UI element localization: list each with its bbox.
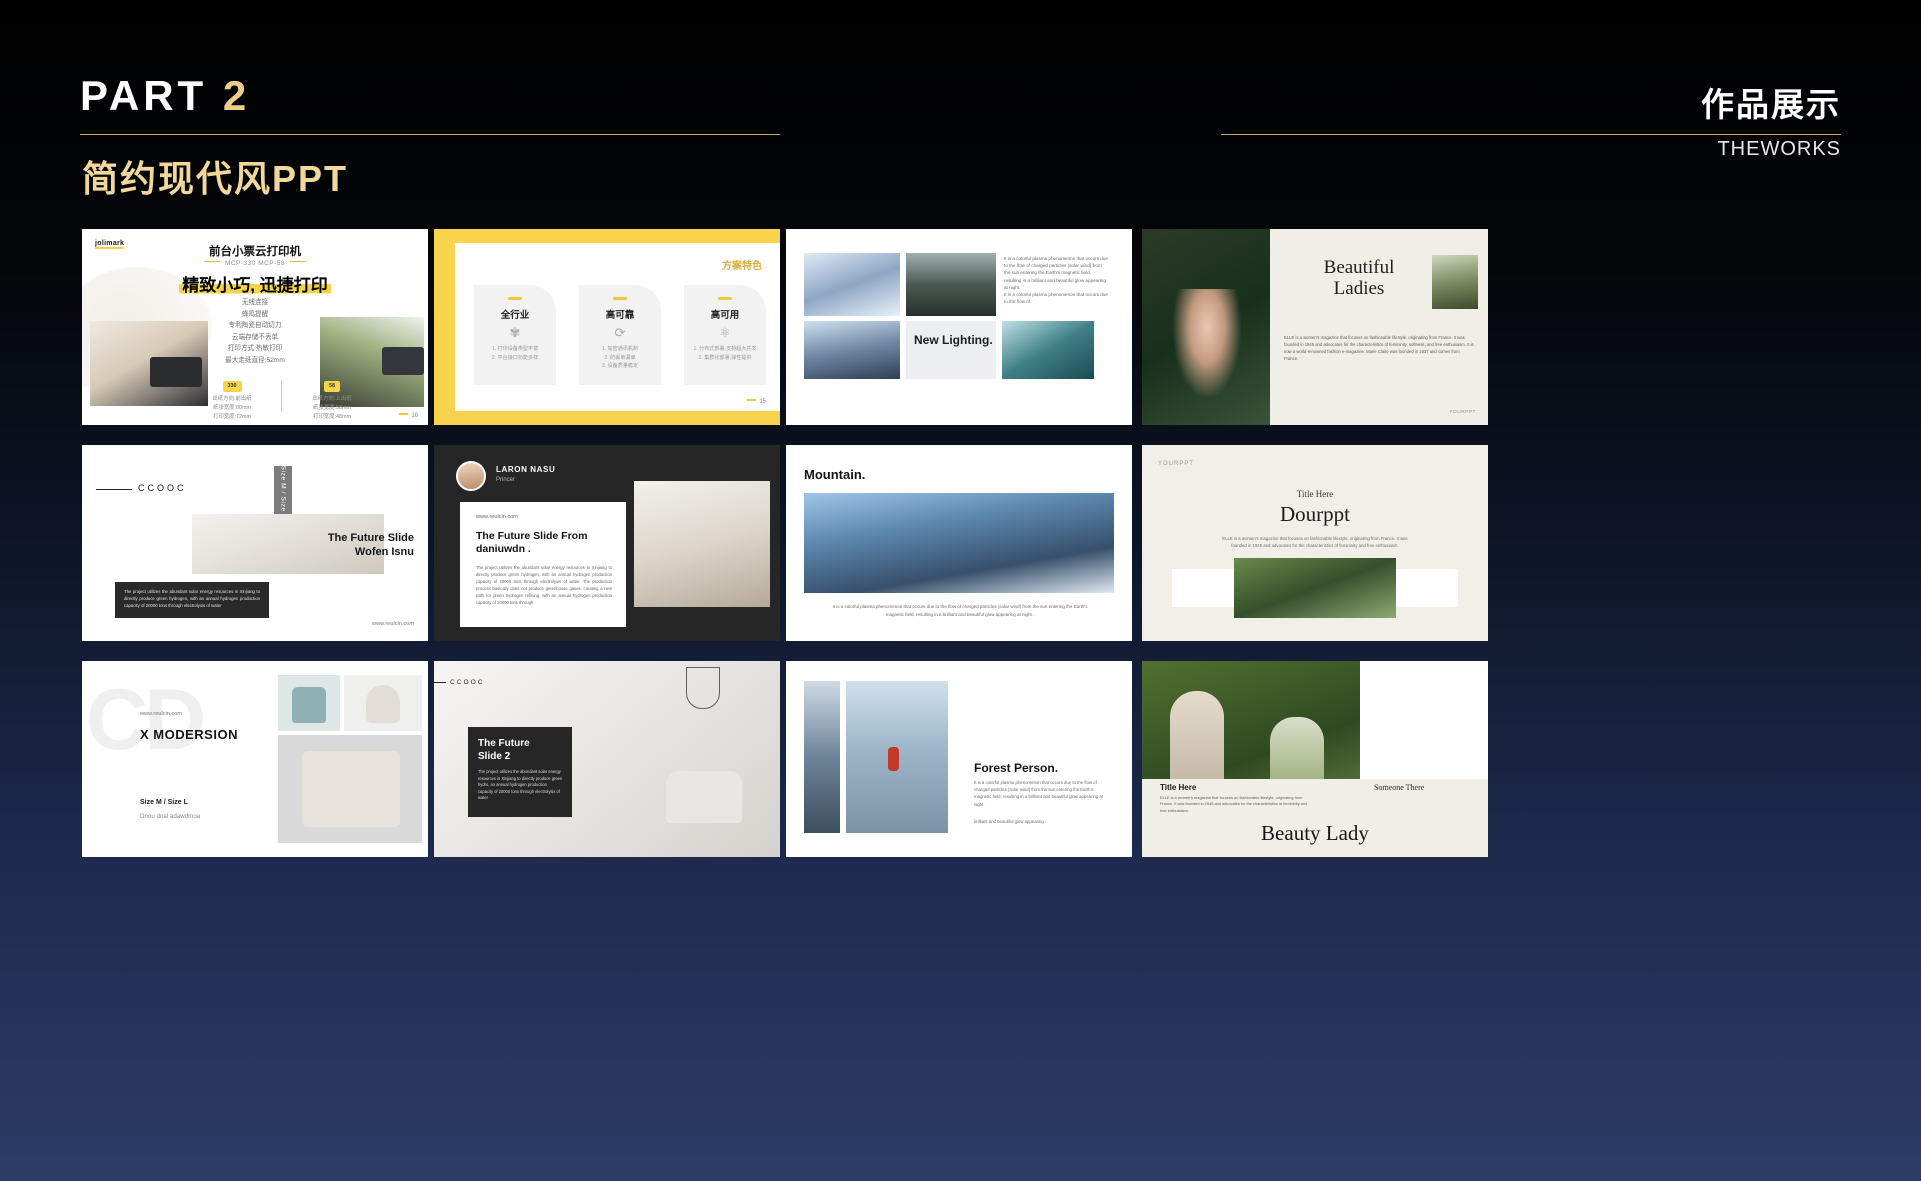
part-label-text: PART <box>80 72 207 119</box>
slide-headline: New Lighting. <box>914 333 993 347</box>
slide-title: Dourppt <box>1142 502 1488 527</box>
yellow-triangle-accent <box>455 229 605 243</box>
body-text: It is a colorful plasma phenomenon that … <box>974 779 1104 808</box>
slide-image-snow-trees <box>804 253 900 316</box>
someone-there-label: Someone There <box>1374 783 1424 792</box>
chair-shape <box>366 685 400 723</box>
bullet: 3. 设备质量稳定 <box>579 362 661 371</box>
headline-line-2: Wofen Isnu <box>234 545 414 559</box>
card-heading: 高可靠 <box>579 307 661 321</box>
headline-tile: New Lighting. <box>906 321 996 379</box>
slide-thumb-beauty-lady[interactable]: Title Here ELLE is a women's magazine th… <box>1142 661 1488 857</box>
page-number: 16 <box>399 413 418 419</box>
spec-badge: 58 <box>324 381 340 392</box>
slide-title: 前台小票云打印机 <box>82 243 428 259</box>
caption-text: It is a colorful plasma phenomenon that … <box>824 603 1096 618</box>
brand-label: YOURPPT <box>1158 461 1194 467</box>
slide-image-woman-flowers <box>1142 229 1270 425</box>
card-accent-dash <box>718 297 732 300</box>
brand-rule <box>434 682 446 683</box>
card-heading: 全行业 <box>474 307 556 321</box>
part-label: PART 2 <box>80 72 250 120</box>
card-bullets: 1. 加密通讯机制 2. 防丢单漏单 3. 设备质量稳定 <box>579 345 661 371</box>
slide-thumb-beautiful-ladies[interactable]: Beautiful Ladies ELLE is a women's magaz… <box>1142 229 1488 425</box>
part-number: 2 <box>223 72 250 119</box>
body-text: ELLE is a women's magazine that focuses … <box>1220 535 1410 549</box>
spec-divider <box>281 381 282 411</box>
bullet: 2. 防丢单漏单 <box>579 354 661 363</box>
slide-title: Beautiful Ladies <box>1284 257 1434 299</box>
body-text: ELLE is a women's magazine that focuses … <box>1284 334 1474 362</box>
slide-headline: X MODERSION <box>140 727 238 742</box>
slide-image-foggy-forest <box>906 253 996 316</box>
feature-item: 蜂鸣提醒 <box>82 309 428 321</box>
slide-image-lake-island <box>1002 321 1094 379</box>
feature-card: 全行业 ✾ 1. 打印设备类型丰富 2. 平台接口功能多样 <box>474 285 556 385</box>
network-node-icon: ⚛ <box>684 325 766 341</box>
refresh-arrow-icon: ⟳ <box>579 325 661 341</box>
header-right-title: 作品展示 <box>1701 78 1841 126</box>
paragraph-2: It is a colorful plasma phenomenon that … <box>1004 291 1108 305</box>
card-heading: 高可用 <box>684 307 766 321</box>
subtitle: Dnou dnal adawdmoa <box>140 813 200 820</box>
title-line-2: Ladies <box>1284 278 1434 299</box>
slide-image-inset <box>1432 255 1478 309</box>
brand-label: CCOOC <box>138 483 187 493</box>
chair-shape <box>292 687 326 723</box>
dark-text-box: The Future Slide 2 The project utilizes … <box>468 727 572 817</box>
headline-line-2: Slide 2 <box>478 750 530 763</box>
slide-image-narrow-landscape <box>804 681 840 833</box>
slide-thumb-future-slide-2[interactable]: CCOOC The Future Slide 2 The project uti… <box>434 661 780 857</box>
bullet: 1. 分布式部署,支持超大并发 <box>684 345 766 354</box>
header-right-subtitle: THEWORKS <box>1717 138 1841 161</box>
slide-title: Beauty Lady <box>1142 821 1488 846</box>
bullet: 1. 打印设备类型丰富 <box>474 345 556 354</box>
slide-headline: The Future Slide Wofen Isnu <box>234 531 414 559</box>
card-accent-dash <box>508 297 522 300</box>
headline-mark: X <box>140 727 149 742</box>
header-rule-left <box>80 134 780 135</box>
page-header: PART 2 简约现代风PPT 作品展示 THEWORKS <box>0 0 1921 215</box>
slide-title: 方案特色 <box>722 257 762 272</box>
feature-item: 打印方式:热敏打印 <box>82 343 428 355</box>
portrait-highlight <box>1172 289 1242 399</box>
page-number: 15 <box>747 399 766 405</box>
body-text: The project utilizes the abundant solar … <box>124 588 260 609</box>
slide-headline: The Future Slide From daniuwdn . <box>476 530 612 556</box>
spec-line: 出纸方向:上出纸 <box>292 395 372 404</box>
slide-thumb-new-lighting[interactable]: New Lighting. It is a colorful plasma ph… <box>786 229 1132 425</box>
brand-label: CCOOC <box>450 679 485 686</box>
model-numbers: MCP-330 MCP-58 <box>82 260 428 267</box>
slide-thumb-laron-nasu[interactable]: LARON NASU Princer www.reulcin.com The F… <box>434 445 780 641</box>
slide-thumb-x-modersion[interactable]: CD www.reulcin.com X MODERSION Size M / … <box>82 661 428 857</box>
website-url[interactable]: www.reulcin.com <box>476 514 518 520</box>
slide-thumb-plan-features[interactable]: 方案特色 全行业 ✾ 1. 打印设备类型丰富 2. 平台接口功能多样 高可靠 ⟳… <box>434 229 780 425</box>
bullet: 2. 平台接口功能多样 <box>474 354 556 363</box>
slide-image-person-ice <box>846 681 948 833</box>
bullet: 1. 加密通讯机制 <box>579 345 661 354</box>
spec-line: 打印宽度:72mm <box>192 413 272 422</box>
avatar <box>456 461 486 491</box>
ghost-watermark: CD <box>86 677 202 763</box>
size-label: Size M / Size L <box>140 799 188 806</box>
slide-headline: The Future Slide 2 <box>478 737 530 763</box>
feature-card: 高可用 ⚛ 1. 分布式部署,支持超大并发 2. 集群化部署,弹性提供 <box>684 285 766 385</box>
footnote-text: brilliant and beautiful glow appearing . <box>974 819 1104 824</box>
brand-rule <box>96 489 132 490</box>
headline-line-1: The Future <box>478 737 530 750</box>
slide-subtitle: Title Here <box>1142 489 1488 499</box>
slide-grid: jolimark 前台小票云打印机 MCP-330 MCP-58 精致小巧, 迅… <box>82 229 1488 857</box>
slide-image-chair-blue <box>278 675 340 731</box>
spec-line: 纸张宽度:58mm <box>292 404 372 413</box>
body-text: The project utilizes the abundant solar … <box>478 769 563 802</box>
body-text: ELLE is a women's magazine that focuses … <box>1160 795 1308 814</box>
slide-headline: 精致小巧, 迅捷打印 <box>82 271 428 296</box>
white-content-card: www.reulcin.com The Future Slide From da… <box>460 502 626 627</box>
title-here-label: Title Here <box>1160 783 1196 792</box>
armchair-shape <box>302 751 400 827</box>
website-url[interactable]: www.reulcin.com <box>372 621 414 627</box>
card-accent-dash <box>613 297 627 300</box>
feature-list: 无线连接 蜂鸣提醒 专利陶瓷自动切刀 云端存储不丢单 打印方式:热敏打印 最大走… <box>82 297 428 366</box>
slide-headline: Mountain. <box>804 467 865 482</box>
slide-headline: Forest Person. <box>974 761 1058 775</box>
body-text: The project utilizes the abundant solar … <box>476 564 612 606</box>
spec-line: 纸张宽度:80mm <box>192 404 272 413</box>
headline-text: MODERSION <box>153 727 238 742</box>
website-url[interactable]: www.reulcin.com <box>140 711 182 717</box>
slide-image-mountains <box>804 321 900 379</box>
dark-text-box: The project utilizes the abundant solar … <box>115 582 269 618</box>
profile-role: Princer <box>496 477 515 483</box>
headline-line-1: The Future Slide <box>234 531 414 545</box>
card-bullets: 1. 分布式部署,支持超大并发 2. 集群化部署,弹性提供 <box>684 345 766 362</box>
slide-thumb-printer-product[interactable]: jolimark 前台小票云打印机 MCP-330 MCP-58 精致小巧, 迅… <box>82 229 428 425</box>
header-rule-right <box>1221 134 1841 135</box>
feature-item: 最大走纸直径:52mm <box>82 355 428 367</box>
feature-item: 无线连接 <box>82 297 428 309</box>
slide-image-armchair <box>634 481 770 607</box>
slide-image-child-forest <box>1234 558 1396 618</box>
slide-thumb-ccooc-future[interactable]: CCOOC Size M / Size L The Future Slide W… <box>82 445 428 641</box>
slide-image-mountain-range <box>804 493 1114 593</box>
spec-line: 出纸方向:前出纸 <box>192 395 272 404</box>
pendant-lamp-icon <box>686 667 720 709</box>
slide-thumb-mountain[interactable]: Mountain. It is a colorful plasma phenom… <box>786 445 1132 641</box>
spec-line: 打印宽度:48mm <box>292 413 372 422</box>
person-figure <box>888 747 899 771</box>
bullet: 2. 集群化部署,弹性提供 <box>684 354 766 363</box>
card-bullets: 1. 打印设备类型丰富 2. 平台接口功能多样 <box>474 345 556 362</box>
feature-item: 专利陶瓷自动切刀 <box>82 320 428 332</box>
flower-cluster-icon: ✾ <box>474 325 556 341</box>
slide-thumb-dourppt[interactable]: YOURPPT Title Here Dourppt ELLE is a wom… <box>1142 445 1488 641</box>
page-title: 简约现代风PPT <box>82 150 348 202</box>
slide-footer-brand: YOURPPT <box>1449 410 1476 415</box>
feature-card: 高可靠 ⟳ 1. 加密通讯机制 2. 防丢单漏单 3. 设备质量稳定 <box>579 285 661 385</box>
feature-item: 云端存储不丢单 <box>82 332 428 344</box>
paragraph-1: It is a colorful plasma phenomenon that … <box>1004 255 1108 291</box>
profile-name: LARON NASU <box>496 465 555 474</box>
slide-thumb-forest-person[interactable]: Forest Person. It is a colorful plasma p… <box>786 661 1132 857</box>
title-line-1: Beautiful <box>1284 257 1434 278</box>
spec-badge: 330 <box>223 381 242 392</box>
spec-group-58: 58 出纸方向:上出纸 纸张宽度:58mm 打印宽度:48mm <box>292 381 372 422</box>
slide-image-chair-white <box>344 675 422 731</box>
slide-image-armchair-large <box>278 735 422 843</box>
chair-shape <box>666 771 742 823</box>
spec-group-330: 330 出纸方向:前出纸 纸张宽度:80mm 打印宽度:72mm <box>192 381 272 422</box>
